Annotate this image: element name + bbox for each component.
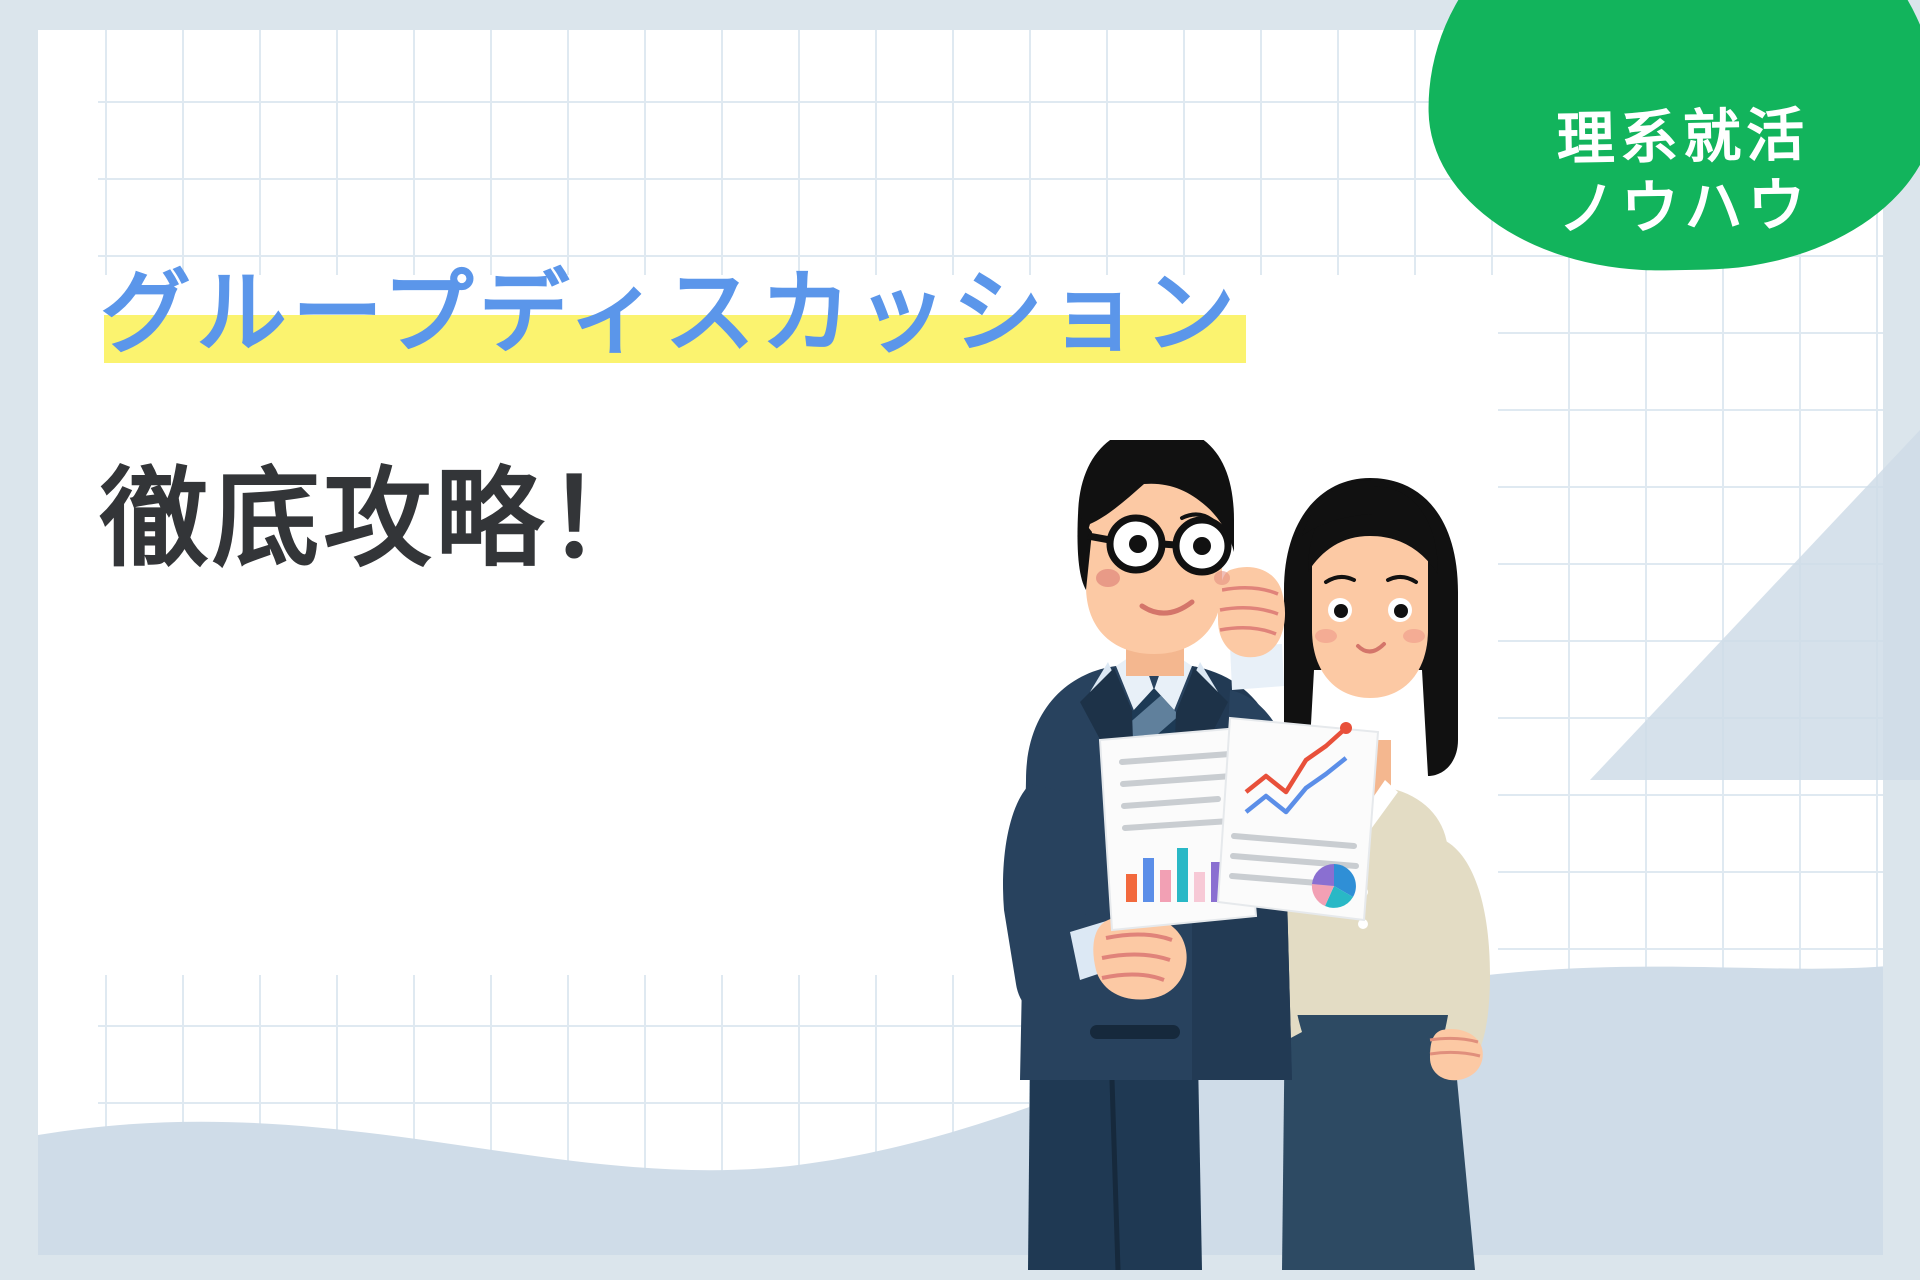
glasses-temple — [1088, 536, 1110, 540]
man-pocket — [1090, 1025, 1180, 1039]
doc2-pie-chart — [1312, 864, 1356, 908]
glasses-bridge — [1162, 544, 1176, 545]
headline-line-1: グループディスカッション — [100, 268, 1240, 359]
document-line-and-pie-chart — [1218, 718, 1378, 920]
woman-cheek-left — [1315, 629, 1337, 643]
illustration-business-people — [930, 440, 1550, 1270]
man-cheek-right — [1214, 571, 1230, 585]
headline-line-1-wrapper: グループディスカッション — [100, 268, 1240, 359]
woman-cheek-right — [1403, 629, 1425, 643]
woman-eye-left-pupil — [1334, 604, 1348, 618]
man-eye-left-pupil — [1129, 535, 1147, 553]
man-cheek-left — [1096, 569, 1120, 587]
badge-line-1: 理系就活 — [1556, 100, 1810, 175]
badge-line-2: ノウハウ — [1557, 171, 1811, 246]
poster-canvas: 理系就活 ノウハウ グループディスカッション 徹底攻略！ — [0, 0, 1920, 1280]
woman-eye-right-pupil — [1394, 604, 1408, 618]
corner-fold-shape — [1590, 430, 1920, 780]
man-eye-right-pupil — [1193, 537, 1211, 555]
